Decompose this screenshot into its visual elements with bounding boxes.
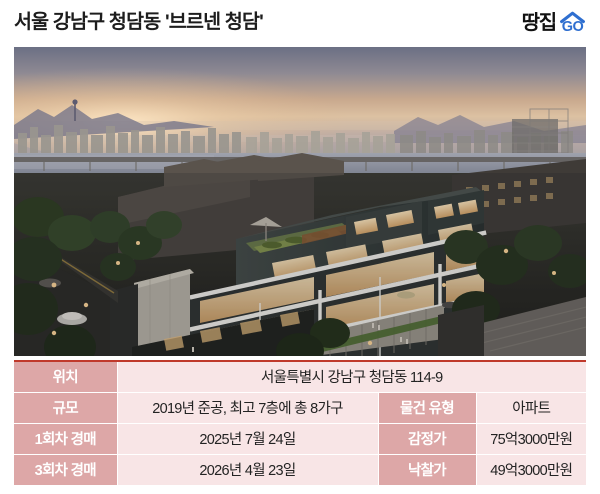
row-value-appraisal-price: 75억3000만원 <box>476 423 586 454</box>
property-photo <box>14 47 586 356</box>
row-label-auction-3: 3회차 경매 <box>14 454 117 485</box>
row-value-auction-3: 2026년 4월 23일 <box>117 454 378 485</box>
house-roof-icon: GO <box>559 11 586 36</box>
logo-wordmark: 땅집 <box>522 13 556 33</box>
row-label-appraisal-price: 감정가 <box>378 423 476 454</box>
row-label-property-type: 물건 유형 <box>378 392 476 423</box>
row-label-location: 위치 <box>14 361 117 392</box>
logo-go-text: GO <box>559 20 586 35</box>
table-row: 위치 서울특별시 강남구 청담동 114-9 <box>14 361 586 392</box>
page-title: 서울 강남구 청담동 '브르넨 청담' <box>14 13 263 33</box>
row-value-property-type: 아파트 <box>476 392 586 423</box>
row-value-winning-bid: 49억3000만원 <box>476 454 586 485</box>
table-row: 규모 2019년 준공, 최고 7층에 총 8가구 물건 유형 아파트 <box>14 392 586 423</box>
table-row: 1회차 경매 2025년 7월 24일 감정가 75억3000만원 <box>14 423 586 454</box>
brand-logo: 땅집 GO <box>522 11 586 36</box>
property-spec-table: 위치 서울특별시 강남구 청담동 114-9 규모 2019년 준공, 최고 7… <box>14 360 586 485</box>
header-bar: 서울 강남구 청담동 '브르넨 청담' 땅집 GO <box>0 0 600 46</box>
row-label-auction-1: 1회차 경매 <box>14 423 117 454</box>
row-value-scale: 2019년 준공, 최고 7층에 총 8가구 <box>117 392 378 423</box>
row-value-auction-1: 2025년 7월 24일 <box>117 423 378 454</box>
table-row: 3회차 경매 2026년 4월 23일 낙찰가 49억3000만원 <box>14 454 586 485</box>
building-rendering <box>14 47 586 356</box>
row-label-winning-bid: 낙찰가 <box>378 454 476 485</box>
row-label-scale: 규모 <box>14 392 117 423</box>
row-value-location: 서울특별시 강남구 청담동 114-9 <box>117 361 586 392</box>
infographic-card: 서울 강남구 청담동 '브르넨 청담' 땅집 GO <box>0 0 600 494</box>
